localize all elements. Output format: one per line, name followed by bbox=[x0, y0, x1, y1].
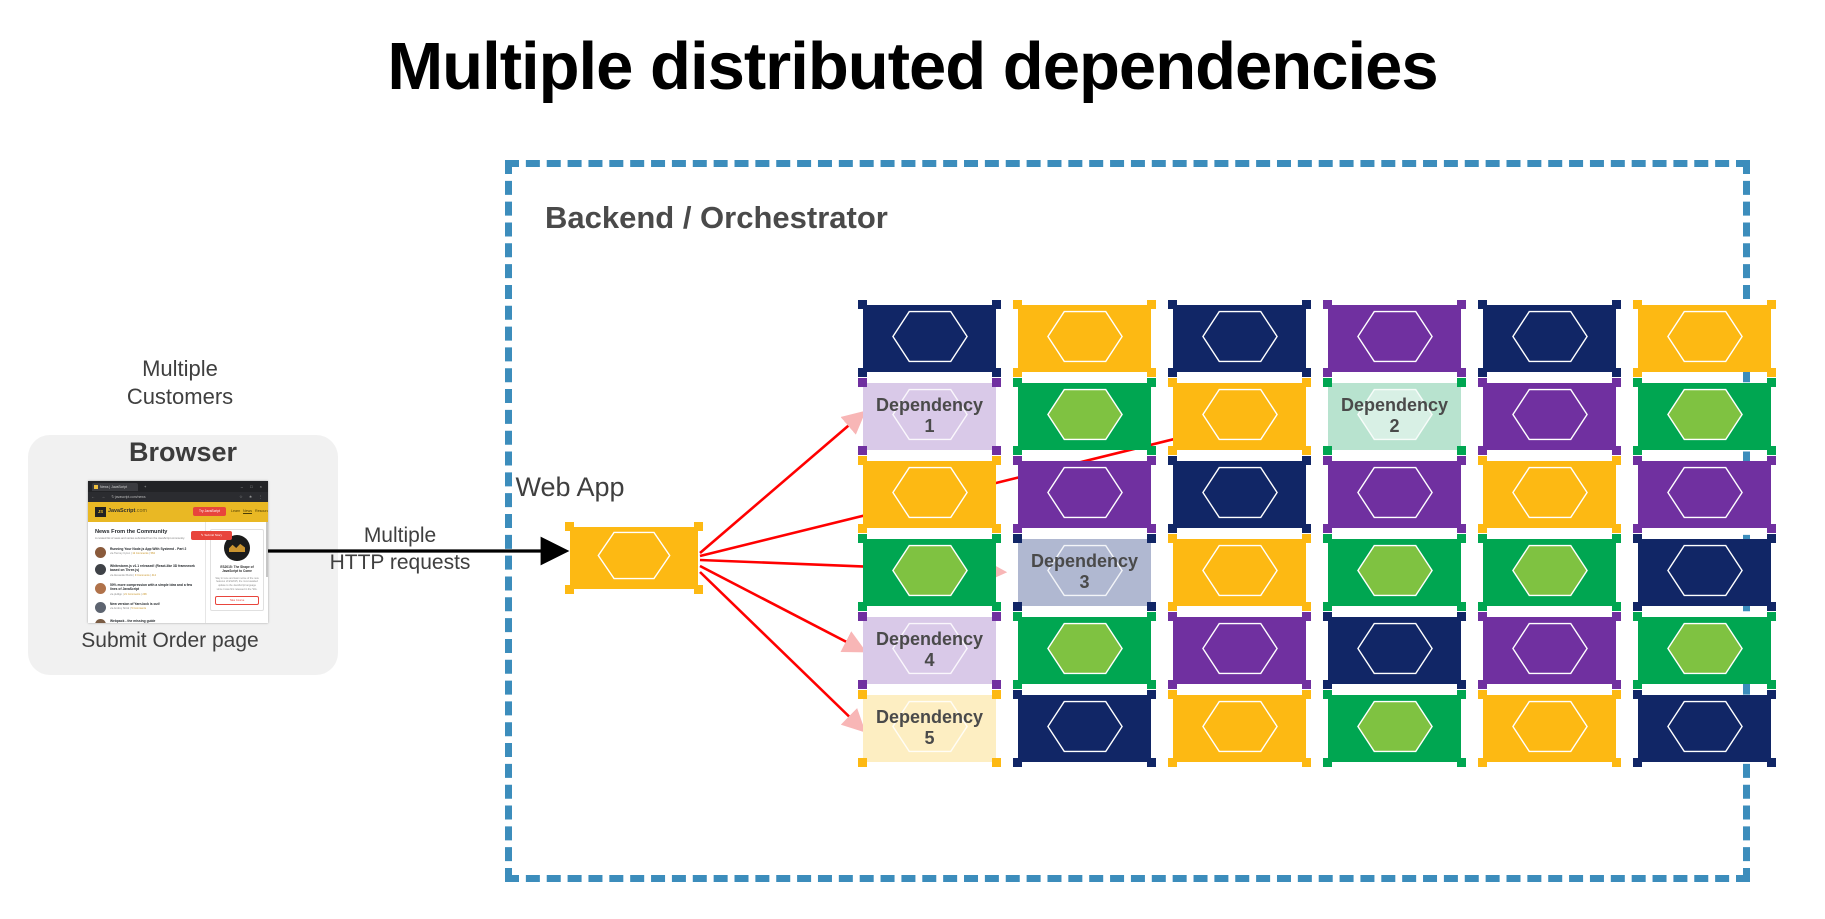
corner-accent bbox=[1302, 524, 1311, 533]
corner-accent bbox=[1013, 612, 1022, 621]
corner-accent bbox=[1147, 456, 1156, 465]
article-author: via pHilipp bbox=[110, 593, 122, 596]
corner-accent bbox=[1302, 446, 1311, 455]
corner-accent bbox=[1147, 690, 1156, 699]
article-comments: 5 Comments bbox=[131, 607, 146, 610]
service-card[interactable] bbox=[1638, 695, 1771, 762]
corner-accent bbox=[1478, 378, 1487, 387]
corner-accent bbox=[1767, 456, 1776, 465]
corner-accent bbox=[1478, 758, 1487, 767]
corner-accent bbox=[992, 758, 1001, 767]
article-meta: via Alexander Buzin | 9 Comments | 412 bbox=[110, 574, 199, 577]
corner-accent bbox=[1767, 524, 1776, 533]
corner-accent bbox=[1612, 680, 1621, 689]
corner-accent bbox=[858, 446, 867, 455]
hexagon-icon bbox=[1653, 617, 1757, 684]
hexagon-icon bbox=[1343, 539, 1447, 606]
hexagon-icon bbox=[1033, 695, 1137, 762]
backend-orchestrator-label: Backend / Orchestrator bbox=[545, 200, 888, 236]
webapp-label: Web App bbox=[470, 472, 670, 503]
service-card[interactable] bbox=[1638, 617, 1771, 684]
corner-accent bbox=[1302, 680, 1311, 689]
corner-accent bbox=[1302, 300, 1311, 309]
service-card[interactable] bbox=[1483, 383, 1616, 450]
article-votes: 584 bbox=[151, 552, 155, 555]
corner-accent bbox=[1457, 534, 1466, 543]
service-card[interactable] bbox=[1638, 539, 1771, 606]
corner-accent bbox=[858, 680, 867, 689]
corner-accent bbox=[858, 612, 867, 621]
corner-accent bbox=[1013, 690, 1022, 699]
dependency-label: Dependency5 bbox=[863, 707, 996, 751]
corner-accent bbox=[1168, 524, 1177, 533]
corner-accent bbox=[858, 534, 867, 543]
corner-accent bbox=[1013, 524, 1022, 533]
service-card[interactable] bbox=[1328, 305, 1461, 372]
corner-accent bbox=[1457, 446, 1466, 455]
hexagon-icon bbox=[1188, 695, 1292, 762]
service-card[interactable] bbox=[863, 539, 996, 606]
try-javascript-button[interactable]: Try JavaScript bbox=[193, 507, 226, 516]
corner-accent bbox=[1147, 602, 1156, 611]
browser-titlebar: News | JavaScript + – □ × bbox=[88, 481, 268, 492]
corner-accent bbox=[1323, 534, 1332, 543]
service-card[interactable] bbox=[1328, 617, 1461, 684]
corner-accent bbox=[1168, 368, 1177, 377]
corner-accent bbox=[1478, 300, 1487, 309]
submit-order-page-label: Submit Order page bbox=[20, 629, 320, 653]
corner-accent bbox=[1478, 690, 1487, 699]
back-forward-reload-icon[interactable]: ← → ↻ bbox=[91, 494, 117, 499]
corner-accent bbox=[1147, 368, 1156, 377]
hexagon-icon bbox=[1653, 461, 1757, 528]
corner-accent bbox=[1612, 446, 1621, 455]
corner-accent bbox=[1168, 446, 1177, 455]
hexagon-icon bbox=[1188, 383, 1292, 450]
corner-accent bbox=[858, 602, 867, 611]
corner-accent bbox=[1168, 534, 1177, 543]
hexagon-icon bbox=[1498, 539, 1602, 606]
customers-line-2: Customers bbox=[127, 384, 233, 409]
corner-accent bbox=[1633, 456, 1642, 465]
corner-accent bbox=[1013, 378, 1022, 387]
corner-accent bbox=[1168, 300, 1177, 309]
article-comments: 21 Comments bbox=[124, 593, 140, 596]
hexagon-icon bbox=[1188, 617, 1292, 684]
corner-accent bbox=[1323, 602, 1332, 611]
corner-accent bbox=[1302, 758, 1311, 767]
corner-accent bbox=[1302, 368, 1311, 377]
corner-accent bbox=[1302, 378, 1311, 387]
corner-accent bbox=[858, 524, 867, 533]
corner-accent bbox=[1478, 680, 1487, 689]
toolbar-icons[interactable]: ☆ ★ ⋮ bbox=[239, 494, 265, 499]
corner-accent bbox=[1612, 758, 1621, 767]
corner-accent bbox=[1633, 690, 1642, 699]
corner-accent bbox=[1767, 378, 1776, 387]
corner-accent bbox=[992, 690, 1001, 699]
browser-tab-title: News | JavaScript bbox=[100, 484, 127, 490]
corner-accent bbox=[1323, 758, 1332, 767]
http-requests-label: Multiple HTTP requests bbox=[310, 523, 490, 577]
corner-accent bbox=[1013, 602, 1022, 611]
corner-accent bbox=[1767, 758, 1776, 767]
article-title[interactable]: New version of Yarn.lock is out! bbox=[110, 602, 160, 606]
service-card[interactable] bbox=[863, 461, 996, 528]
dependency-label: Dependency4 bbox=[863, 629, 996, 673]
corner-accent bbox=[1147, 758, 1156, 767]
corner-accent bbox=[992, 300, 1001, 309]
corner-accent bbox=[1767, 690, 1776, 699]
service-card[interactable] bbox=[1018, 617, 1151, 684]
hexagon-icon bbox=[1498, 695, 1602, 762]
corner-accent bbox=[1612, 690, 1621, 699]
corner-accent bbox=[1013, 300, 1022, 309]
corner-accent bbox=[1457, 300, 1466, 309]
corner-accent bbox=[1302, 602, 1311, 611]
hexagon-icon bbox=[1033, 305, 1137, 372]
hexagon-icon bbox=[1498, 461, 1602, 528]
corner-accent bbox=[1323, 690, 1332, 699]
corner-accent bbox=[1323, 612, 1332, 621]
corner-accent bbox=[858, 690, 867, 699]
corner-accent bbox=[1612, 534, 1621, 543]
corner-accent bbox=[858, 378, 867, 387]
corner-accent bbox=[565, 585, 574, 594]
corner-accent bbox=[1633, 524, 1642, 533]
hexagon-icon bbox=[1343, 461, 1447, 528]
corner-accent bbox=[858, 368, 867, 377]
site-navbar: JS JavaScript.com Try JavaScript Learn N… bbox=[88, 502, 268, 522]
multiple-customers-label: Multiple Customers bbox=[60, 355, 300, 411]
article-meta: via Tierney Cyren | 12 Comments | 584 bbox=[110, 552, 186, 555]
article-title[interactable]: 50% more compression with a simple idea … bbox=[110, 583, 199, 592]
service-card[interactable] bbox=[1173, 461, 1306, 528]
list-item[interactable]: New version of Yarn.lock is out! via And… bbox=[95, 602, 199, 613]
corner-accent bbox=[1323, 456, 1332, 465]
corner-accent bbox=[1457, 524, 1466, 533]
article-meta: via pHilipp | 21 Comments | 296 bbox=[110, 593, 199, 596]
corner-accent bbox=[1612, 368, 1621, 377]
dependency-card[interactable]: Dependency4 bbox=[863, 617, 996, 684]
corner-accent bbox=[1302, 534, 1311, 543]
service-card[interactable] bbox=[1173, 383, 1306, 450]
corner-accent bbox=[1612, 456, 1621, 465]
corner-accent bbox=[1767, 300, 1776, 309]
corner-accent bbox=[1323, 680, 1332, 689]
hexagon-icon bbox=[1188, 305, 1292, 372]
hexagon-icon bbox=[584, 527, 684, 590]
corner-accent bbox=[1612, 378, 1621, 387]
corner-accent bbox=[1767, 602, 1776, 611]
corner-accent bbox=[1767, 680, 1776, 689]
corner-accent bbox=[1633, 446, 1642, 455]
corner-accent bbox=[1147, 524, 1156, 533]
service-card[interactable] bbox=[1483, 695, 1616, 762]
http-line-1: Multiple bbox=[364, 524, 436, 547]
corner-accent bbox=[1147, 300, 1156, 309]
corner-accent bbox=[694, 522, 703, 531]
corner-accent bbox=[1323, 368, 1332, 377]
service-card[interactable] bbox=[1328, 539, 1461, 606]
hexagon-icon bbox=[1498, 383, 1602, 450]
service-card[interactable] bbox=[1328, 461, 1461, 528]
service-card[interactable] bbox=[1483, 617, 1616, 684]
corner-accent bbox=[1013, 680, 1022, 689]
dependency-card[interactable]: Dependency1 bbox=[863, 383, 996, 450]
hexagon-icon bbox=[878, 461, 982, 528]
corner-accent bbox=[858, 456, 867, 465]
corner-accent bbox=[1457, 368, 1466, 377]
corner-accent bbox=[1302, 456, 1311, 465]
hexagon-icon bbox=[1498, 617, 1602, 684]
article-title[interactable]: Whitestorm.js v1.1 released! (React-like… bbox=[110, 564, 199, 573]
corner-accent bbox=[1612, 612, 1621, 621]
corner-accent bbox=[1302, 612, 1311, 621]
corner-accent bbox=[1633, 534, 1642, 543]
corner-accent bbox=[565, 522, 574, 531]
corner-accent bbox=[1478, 524, 1487, 533]
promo-title: ES2015: The Shape of JavaScript to Come bbox=[215, 565, 259, 574]
corner-accent bbox=[992, 612, 1001, 621]
service-card[interactable] bbox=[1638, 383, 1771, 450]
corner-accent bbox=[1478, 534, 1487, 543]
corner-accent bbox=[1633, 378, 1642, 387]
site-logo-icon: JS bbox=[95, 507, 106, 517]
window-controls-icon[interactable]: – □ × bbox=[241, 484, 265, 489]
hexagon-icon bbox=[1653, 305, 1757, 372]
article-author: via Alexander Buzin bbox=[110, 574, 133, 577]
service-card[interactable] bbox=[1018, 461, 1151, 528]
hexagon-icon bbox=[1188, 461, 1292, 528]
corner-accent bbox=[1478, 446, 1487, 455]
article-votes: 296 bbox=[142, 593, 146, 596]
service-card[interactable] bbox=[1483, 305, 1616, 372]
service-card[interactable] bbox=[1483, 539, 1616, 606]
news-headline: News From the Community bbox=[95, 529, 199, 535]
corner-accent bbox=[1457, 758, 1466, 767]
corner-accent bbox=[1457, 690, 1466, 699]
article-title[interactable]: Running Your Node.js App With Systemd - … bbox=[110, 547, 186, 551]
corner-accent bbox=[1457, 680, 1466, 689]
brand-suffix: .com bbox=[135, 508, 147, 514]
article-comments: 12 Comments bbox=[132, 552, 148, 555]
corner-accent bbox=[1013, 534, 1022, 543]
corner-accent bbox=[1612, 300, 1621, 309]
corner-accent bbox=[992, 680, 1001, 689]
service-card[interactable] bbox=[1018, 383, 1151, 450]
corner-accent bbox=[1013, 368, 1022, 377]
corner-accent bbox=[1612, 524, 1621, 533]
corner-accent bbox=[1612, 602, 1621, 611]
corner-accent bbox=[1323, 524, 1332, 533]
corner-accent bbox=[1457, 456, 1466, 465]
favicon-icon bbox=[94, 485, 98, 489]
dependency-card[interactable]: Dependency5 bbox=[863, 695, 996, 762]
corner-accent bbox=[1147, 612, 1156, 621]
corner-accent bbox=[992, 378, 1001, 387]
article-author: via Andrey Sitnik bbox=[110, 607, 129, 610]
corner-accent bbox=[1457, 602, 1466, 611]
corner-accent bbox=[1633, 612, 1642, 621]
corner-accent bbox=[1457, 612, 1466, 621]
article-author: via Tierney Cyren bbox=[110, 552, 130, 555]
hexagon-icon bbox=[1343, 695, 1447, 762]
list-item[interactable]: 50% more compression with a simple idea … bbox=[95, 583, 199, 596]
nav-link-news[interactable]: News bbox=[243, 509, 252, 513]
avatar bbox=[95, 619, 106, 623]
corner-accent bbox=[1323, 446, 1332, 455]
corner-accent bbox=[1633, 680, 1642, 689]
service-card[interactable] bbox=[1173, 305, 1306, 372]
corner-accent bbox=[1147, 446, 1156, 455]
corner-accent bbox=[1478, 456, 1487, 465]
corner-accent bbox=[1633, 368, 1642, 377]
service-card[interactable] bbox=[863, 305, 996, 372]
corner-accent bbox=[1478, 368, 1487, 377]
service-card[interactable] bbox=[1173, 695, 1306, 762]
corner-accent bbox=[1323, 300, 1332, 309]
browser-screenshot: News | JavaScript + – □ × ← → ↻ javascri… bbox=[88, 481, 268, 623]
service-card[interactable] bbox=[1173, 617, 1306, 684]
submit-story-button[interactable]: ✎ Submit Story bbox=[191, 531, 232, 540]
corner-accent bbox=[1767, 534, 1776, 543]
new-tab-icon[interactable]: + bbox=[144, 484, 146, 489]
corner-accent bbox=[1147, 680, 1156, 689]
corner-accent bbox=[1147, 378, 1156, 387]
web-app-node[interactable] bbox=[570, 527, 698, 589]
service-card[interactable] bbox=[1483, 461, 1616, 528]
hexagon-icon bbox=[1343, 617, 1447, 684]
nav-link-resources[interactable]: Resources bbox=[255, 509, 268, 513]
corner-accent bbox=[1168, 690, 1177, 699]
corner-accent bbox=[1633, 602, 1642, 611]
service-card[interactable] bbox=[1638, 305, 1771, 372]
hexagon-icon bbox=[1653, 539, 1757, 606]
hexagon-icon bbox=[1033, 617, 1137, 684]
corner-accent bbox=[1633, 758, 1642, 767]
promo-card[interactable]: ES2015: The Shape of JavaScript to Come … bbox=[210, 529, 264, 611]
corner-accent bbox=[992, 446, 1001, 455]
promo-body: Stay in tune and learn some of the new f… bbox=[215, 577, 259, 592]
corner-accent bbox=[1013, 446, 1022, 455]
news-subtitle: A curated list of news and stories submi… bbox=[95, 537, 199, 541]
avatar bbox=[95, 583, 106, 594]
corner-accent bbox=[858, 758, 867, 767]
corner-accent bbox=[1767, 368, 1776, 377]
url-text[interactable]: javascript.com/news bbox=[115, 495, 146, 499]
corner-accent bbox=[1168, 758, 1177, 767]
corner-accent bbox=[1457, 378, 1466, 387]
hexagon-icon bbox=[878, 305, 982, 372]
http-line-2: HTTP requests bbox=[330, 551, 471, 574]
corner-accent bbox=[992, 368, 1001, 377]
avatar bbox=[95, 547, 106, 558]
article-votes: 412 bbox=[152, 574, 156, 577]
service-card[interactable] bbox=[1638, 461, 1771, 528]
corner-accent bbox=[1168, 612, 1177, 621]
service-card[interactable] bbox=[1018, 695, 1151, 762]
corner-accent bbox=[694, 585, 703, 594]
corner-accent bbox=[1478, 612, 1487, 621]
customers-line-1: Multiple bbox=[142, 356, 218, 381]
corner-accent bbox=[1302, 690, 1311, 699]
news-column: News From the Community A curated list o… bbox=[88, 522, 205, 623]
browser-label: Browser bbox=[28, 437, 338, 468]
corner-accent bbox=[1767, 446, 1776, 455]
corner-accent bbox=[992, 534, 1001, 543]
hexagon-icon bbox=[1498, 305, 1602, 372]
avatar bbox=[95, 564, 106, 575]
corner-accent bbox=[1147, 534, 1156, 543]
corner-accent bbox=[1767, 612, 1776, 621]
hexagon-icon bbox=[1653, 695, 1757, 762]
corner-accent bbox=[1633, 300, 1642, 309]
page-body: News From the Community A curated list o… bbox=[88, 522, 268, 623]
service-card[interactable] bbox=[1018, 305, 1151, 372]
service-card[interactable] bbox=[1328, 695, 1461, 762]
hexagon-icon bbox=[878, 539, 982, 606]
article-comments: 9 Comments bbox=[135, 574, 150, 577]
scrollbar[interactable] bbox=[266, 522, 268, 577]
dependency-label: Dependency3 bbox=[1018, 551, 1151, 595]
corner-accent bbox=[992, 524, 1001, 533]
dependency-card[interactable]: Dependency3 bbox=[1018, 539, 1151, 606]
corner-accent bbox=[992, 456, 1001, 465]
dependency-label: Dependency1 bbox=[863, 395, 996, 439]
corner-accent bbox=[1478, 602, 1487, 611]
corner-accent bbox=[1168, 680, 1177, 689]
corner-accent bbox=[858, 300, 867, 309]
dependency-card[interactable]: Dependency2 bbox=[1328, 383, 1461, 450]
page-title: Multiple distributed dependencies bbox=[0, 28, 1825, 105]
site-brand: JavaScript.com bbox=[108, 508, 147, 514]
corner-accent bbox=[1323, 378, 1332, 387]
brand-name: JavaScript bbox=[108, 508, 135, 514]
service-card[interactable] bbox=[1173, 539, 1306, 606]
corner-accent bbox=[1168, 378, 1177, 387]
dependency-label: Dependency2 bbox=[1328, 395, 1461, 439]
hexagon-icon bbox=[1653, 383, 1757, 450]
corner-accent bbox=[992, 602, 1001, 611]
list-item[interactable]: Webpack - the missing guide via Jonathan… bbox=[95, 619, 199, 623]
corner-accent bbox=[1013, 758, 1022, 767]
corner-accent bbox=[1168, 456, 1177, 465]
hexagon-icon bbox=[1188, 539, 1292, 606]
corner-accent bbox=[1168, 602, 1177, 611]
corner-accent bbox=[1013, 456, 1022, 465]
list-item[interactable]: Running Your Node.js App With Systemd - … bbox=[95, 547, 199, 558]
avatar bbox=[95, 602, 106, 613]
list-item[interactable]: Whitestorm.js v1.1 released! (React-like… bbox=[95, 564, 199, 577]
take-course-button[interactable]: Take Course bbox=[215, 596, 259, 605]
article-meta: via Andrey Sitnik | 5 Comments bbox=[110, 607, 160, 610]
article-title[interactable]: Webpack - the missing guide bbox=[110, 619, 155, 623]
browser-urlbar: ← → ↻ javascript.com/news ☆ ★ ⋮ bbox=[88, 492, 268, 502]
hexagon-icon bbox=[1033, 461, 1137, 528]
nav-link-learn[interactable]: Learn bbox=[231, 509, 240, 513]
hexagon-icon bbox=[1343, 305, 1447, 372]
hexagon-icon bbox=[1033, 383, 1137, 450]
